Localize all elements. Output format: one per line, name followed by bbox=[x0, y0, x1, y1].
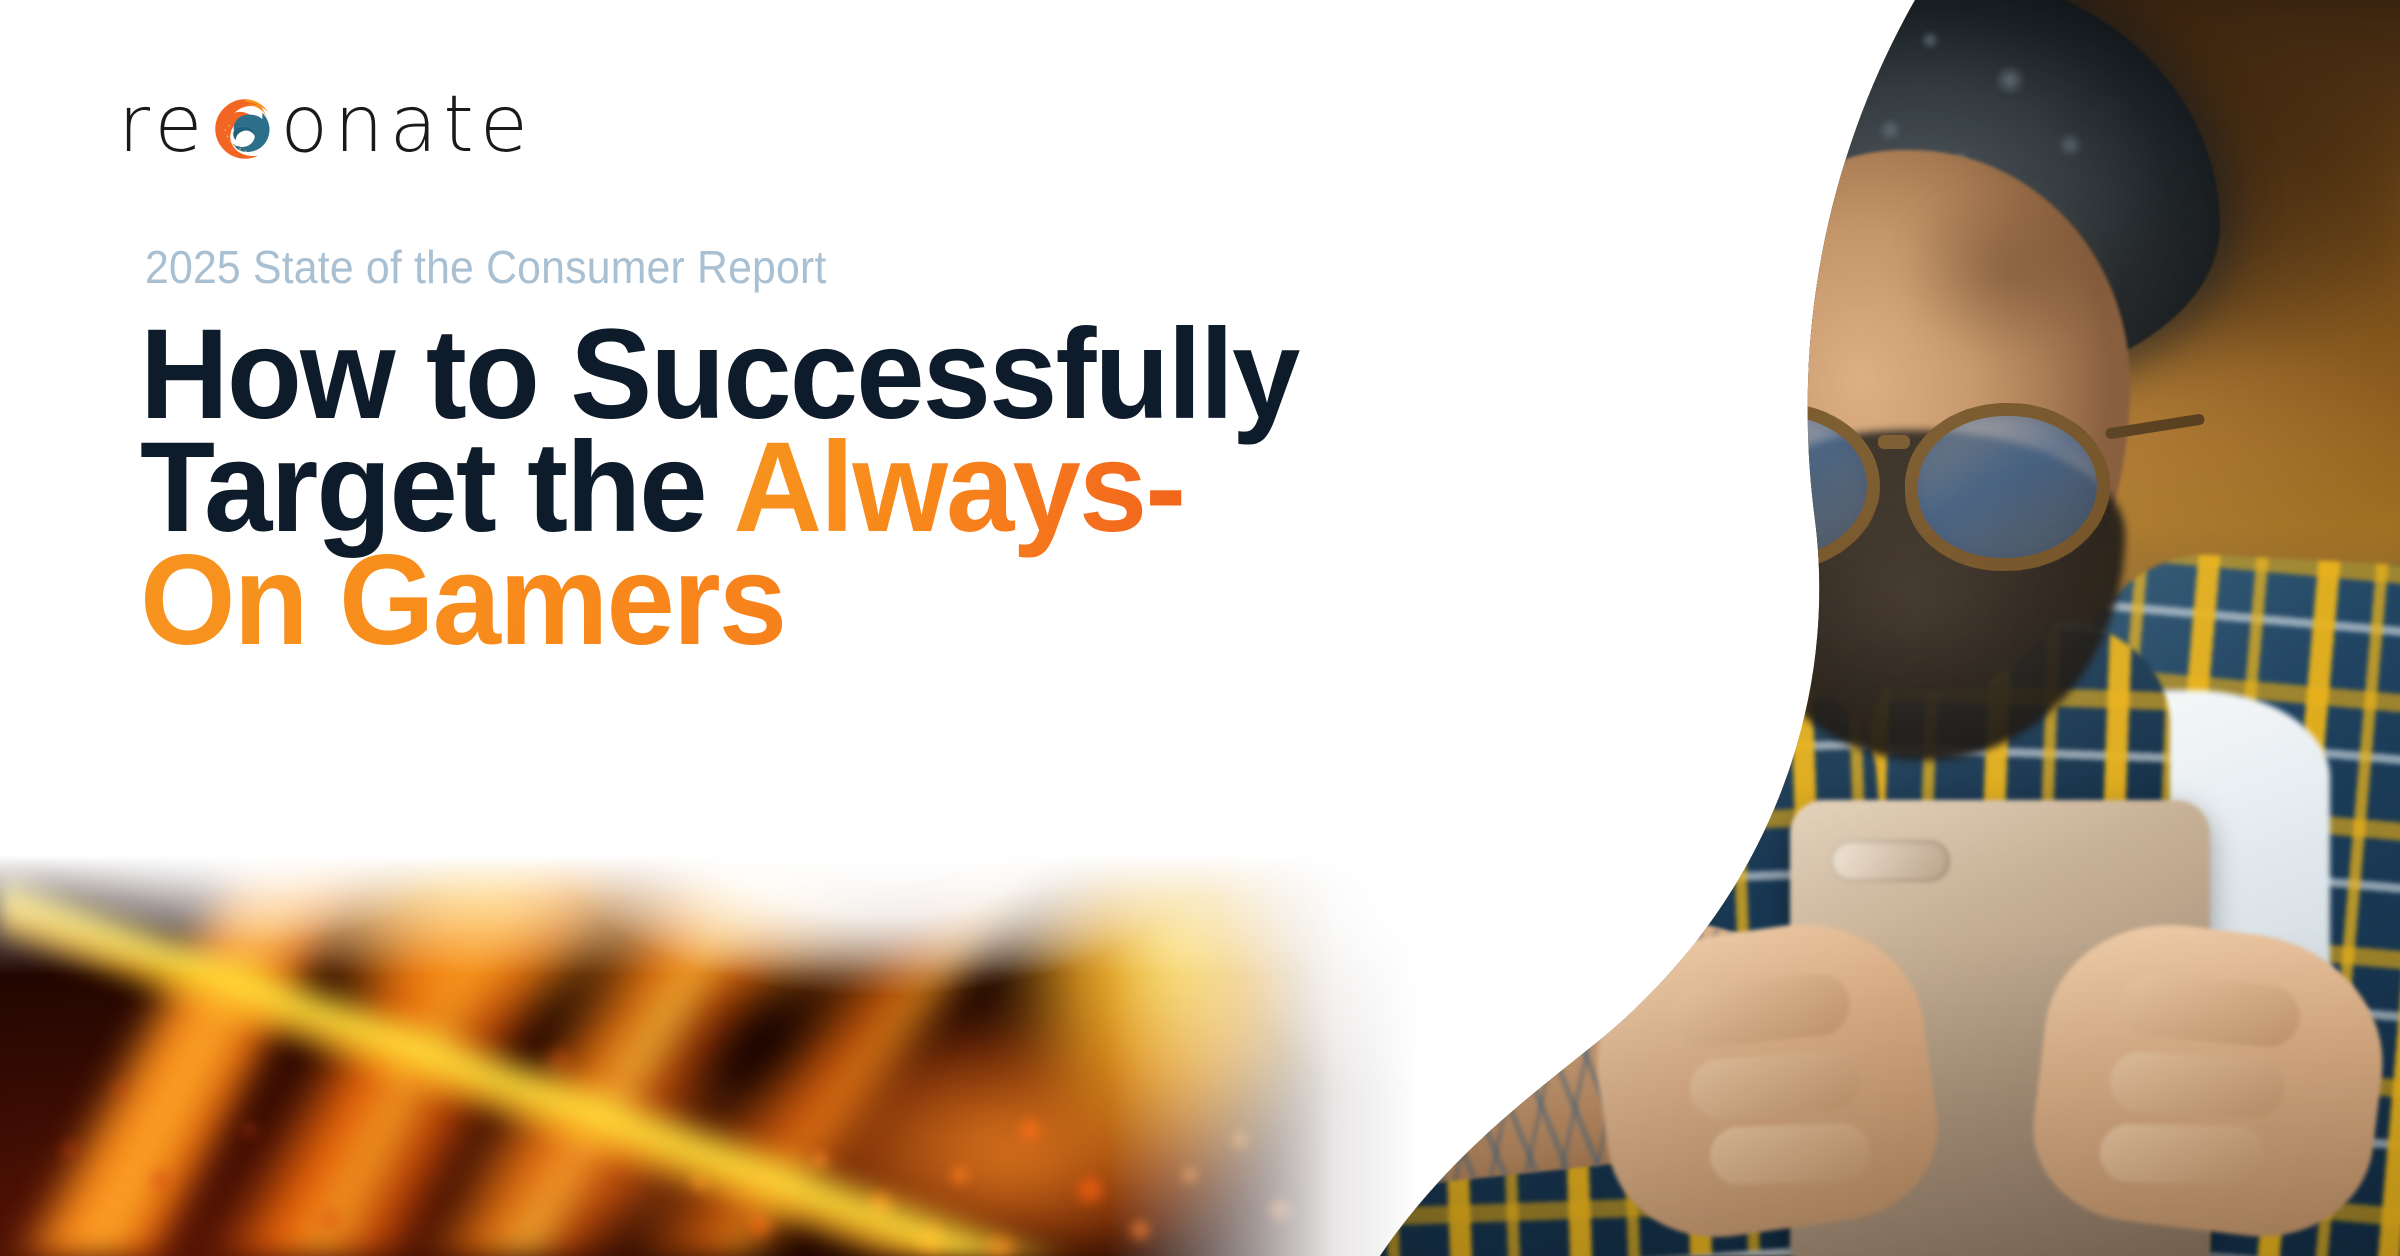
report-cover: re bbox=[0, 0, 2400, 1256]
headline-line-1: How to Successfully bbox=[140, 318, 1350, 431]
headline-line-3: On Gamers bbox=[140, 544, 1350, 657]
headline-line-2: Target the Always- bbox=[140, 431, 1350, 544]
report-eyebrow: 2025 State of the Consumer Report bbox=[145, 240, 827, 294]
photo-color-grade bbox=[1270, 0, 2400, 1256]
logo-text-before: re bbox=[118, 86, 208, 164]
hero-photo bbox=[1270, 0, 2400, 1256]
page-title: How to Successfully Target the Always- O… bbox=[140, 318, 1400, 657]
logo-text-after: onate bbox=[280, 86, 534, 164]
cover-content: re bbox=[0, 0, 1400, 1256]
swirl-s-icon bbox=[214, 98, 276, 160]
headline-line-2-accent: Always- bbox=[733, 416, 1184, 559]
resonate-logo[interactable]: re bbox=[118, 86, 534, 164]
